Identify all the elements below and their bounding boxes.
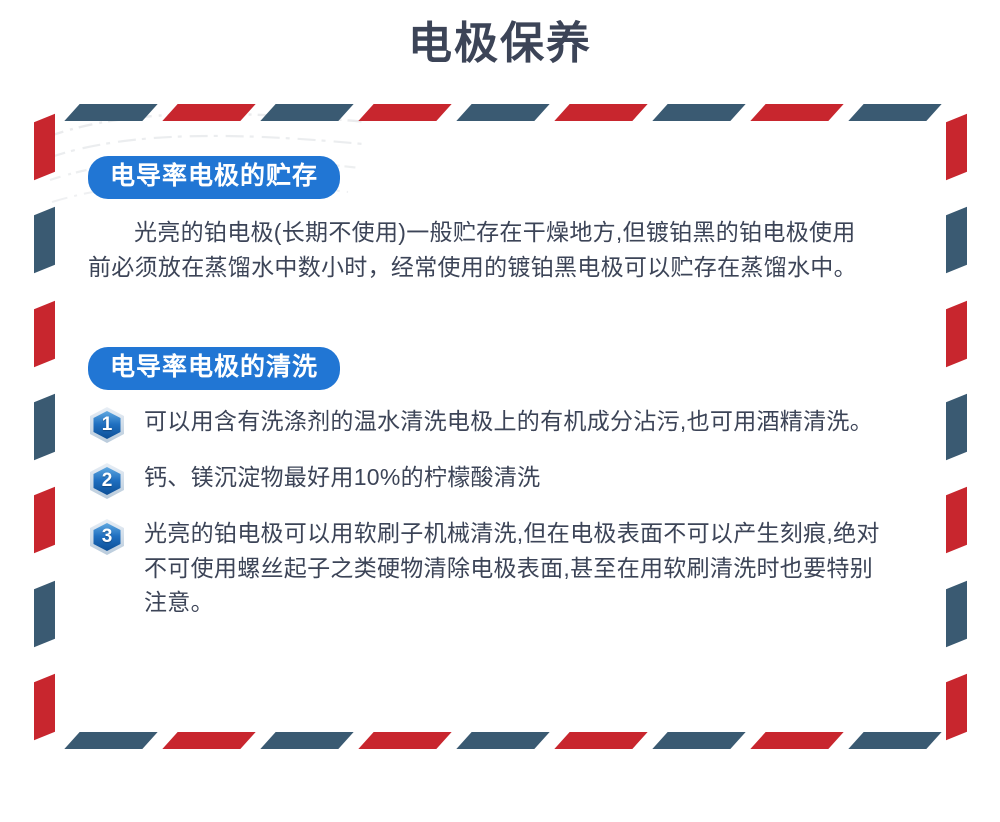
content-area: 电导率电极的贮存 光亮的铂电极(长期不使用)一般贮存在干燥地方,但镀铂黑的铂电极…: [88, 156, 918, 620]
stripe: [34, 300, 55, 366]
hexagon-number-icon: 2: [88, 462, 126, 500]
stripe: [358, 732, 451, 749]
hexagon-number-icon: 1: [88, 406, 126, 444]
list-item: 1 可以用含有洗涤剂的温水清洗电极上的有机成分沾污,也可用酒精清洗。: [88, 404, 918, 444]
stripe: [64, 104, 157, 121]
stripe: [260, 104, 353, 121]
stripe: [750, 104, 843, 121]
stripe: [848, 732, 941, 749]
step-number: 1: [88, 406, 126, 444]
stripe: [162, 104, 255, 121]
stripe: [162, 732, 255, 749]
stripe: [34, 394, 55, 460]
section-paragraph-storage: 光亮的铂电极(长期不使用)一般贮存在干燥地方,但镀铂黑的铂电极使用前必须放在蒸馏…: [88, 215, 878, 285]
stripe: [946, 207, 967, 273]
stripe: [652, 104, 745, 121]
stripe: [34, 580, 55, 646]
stripe: [946, 487, 967, 553]
stripe: [358, 104, 451, 121]
step-number: 3: [88, 518, 126, 556]
stripe: [456, 104, 549, 121]
stripe: [456, 732, 549, 749]
border-stripes-bottom: [72, 732, 934, 750]
stripe: [554, 732, 647, 749]
cleaning-steps-list: 1 可以用含有洗涤剂的温水清洗电极上的有机成分沾污,也可用酒精清洗。 2 钙、镁…: [88, 404, 918, 620]
border-stripes-top: [72, 104, 934, 122]
page-title: 电极保养: [0, 18, 1000, 71]
stripe: [946, 300, 967, 366]
stripe: [946, 674, 967, 740]
list-item-text: 钙、镁沉淀物最好用10%的柠檬酸清洗: [144, 460, 884, 495]
list-item-text: 可以用含有洗涤剂的温水清洗电极上的有机成分沾污,也可用酒精清洗。: [144, 404, 884, 439]
stripe: [260, 732, 353, 749]
stripe: [34, 207, 55, 273]
stripe: [64, 732, 157, 749]
stripe: [34, 674, 55, 740]
section-storage: 电导率电极的贮存 光亮的铂电极(长期不使用)一般贮存在干燥地方,但镀铂黑的铂电极…: [88, 156, 918, 285]
hexagon-number-icon: 3: [88, 518, 126, 556]
stripe: [946, 114, 967, 180]
list-item-text: 光亮的铂电极可以用软刷子机械清洗,但在电极表面不可以产生刻痕,绝对不可使用螺丝起…: [144, 516, 884, 620]
stripe: [848, 104, 941, 121]
stripe: [34, 114, 55, 180]
decorative-frame: 电导率电极的贮存 光亮的铂电极(长期不使用)一般贮存在干燥地方,但镀铂黑的铂电极…: [30, 96, 970, 756]
border-stripes-right: [944, 118, 968, 736]
section-cleaning: 电导率电极的清洗: [88, 347, 918, 620]
stripe: [652, 732, 745, 749]
list-item: 3 光亮的铂电极可以用软刷子机械清洗,但在电极表面不可以产生刻痕,绝对不可使用螺…: [88, 516, 918, 620]
section-badge-storage: 电导率电极的贮存: [88, 156, 340, 199]
step-number: 2: [88, 462, 126, 500]
stripe: [34, 487, 55, 553]
stripe: [946, 580, 967, 646]
stripe: [750, 732, 843, 749]
border-stripes-left: [32, 118, 56, 736]
stripe: [554, 104, 647, 121]
list-item: 2 钙、镁沉淀物最好用10%的柠檬酸清洗: [88, 460, 918, 500]
section-badge-cleaning: 电导率电极的清洗: [88, 347, 340, 390]
stripe: [946, 394, 967, 460]
